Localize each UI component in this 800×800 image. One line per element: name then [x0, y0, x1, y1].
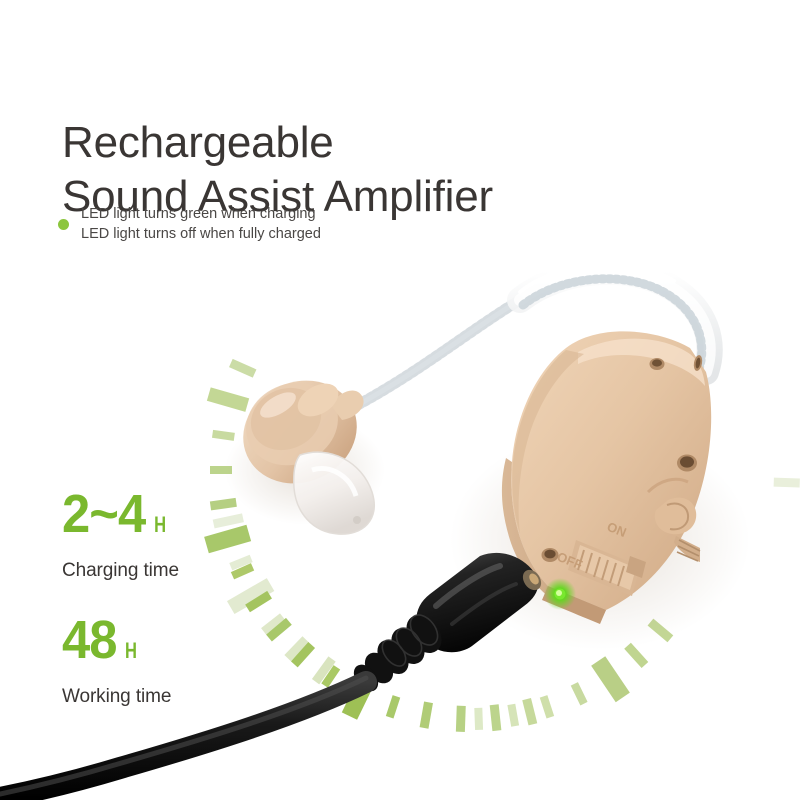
bullet-dot-icon: [58, 219, 69, 230]
clear-ear-hook: [520, 272, 710, 372]
stat-working-value: 48: [62, 612, 117, 668]
headline-line-1: Rechargeable: [62, 118, 334, 167]
stat-charging-time: 2~4 H Charging time: [62, 486, 179, 582]
stat-working-time: 48 H Working time: [62, 612, 171, 708]
charging-cable-connector: [349, 553, 545, 696]
product-marketing-banner: OFF ON: [0, 0, 800, 800]
strain-relief: [349, 608, 449, 696]
stat-charging-value: 2~4: [62, 486, 145, 542]
page-title: Rechargeable Sound Assist Amplifier: [62, 62, 702, 278]
charging-led: [544, 578, 576, 610]
clear-sound-tube: [352, 300, 520, 408]
device-shell: OFF ON: [502, 331, 711, 624]
stat-working-value-group: 48 H: [62, 612, 165, 679]
ear-dome-tip: [294, 452, 375, 534]
volume-wheel: [648, 479, 700, 562]
stat-working-unit: H: [125, 623, 137, 679]
feature-line-1: LED light turns green when charging: [81, 205, 321, 224]
stat-charging-label: Charging time: [62, 559, 179, 582]
switch-label-off: OFF: [555, 549, 585, 573]
power-switch: OFF ON: [555, 519, 646, 596]
stat-charging-value-group: 2~4 H: [62, 486, 172, 553]
stat-working-label: Working time: [62, 685, 171, 708]
stat-charging-unit: H: [154, 497, 166, 553]
switch-label-on: ON: [605, 519, 629, 540]
earbud-shadow: [225, 415, 385, 525]
earmold-body: [227, 363, 374, 502]
device-shadow: [450, 430, 750, 650]
charging-cable: [0, 682, 366, 798]
microphone-ports: [542, 354, 704, 562]
feature-line-2: LED light turns off when fully charged: [81, 225, 321, 244]
feature-bullet-list: LED light turns green when charging LED …: [58, 205, 321, 244]
